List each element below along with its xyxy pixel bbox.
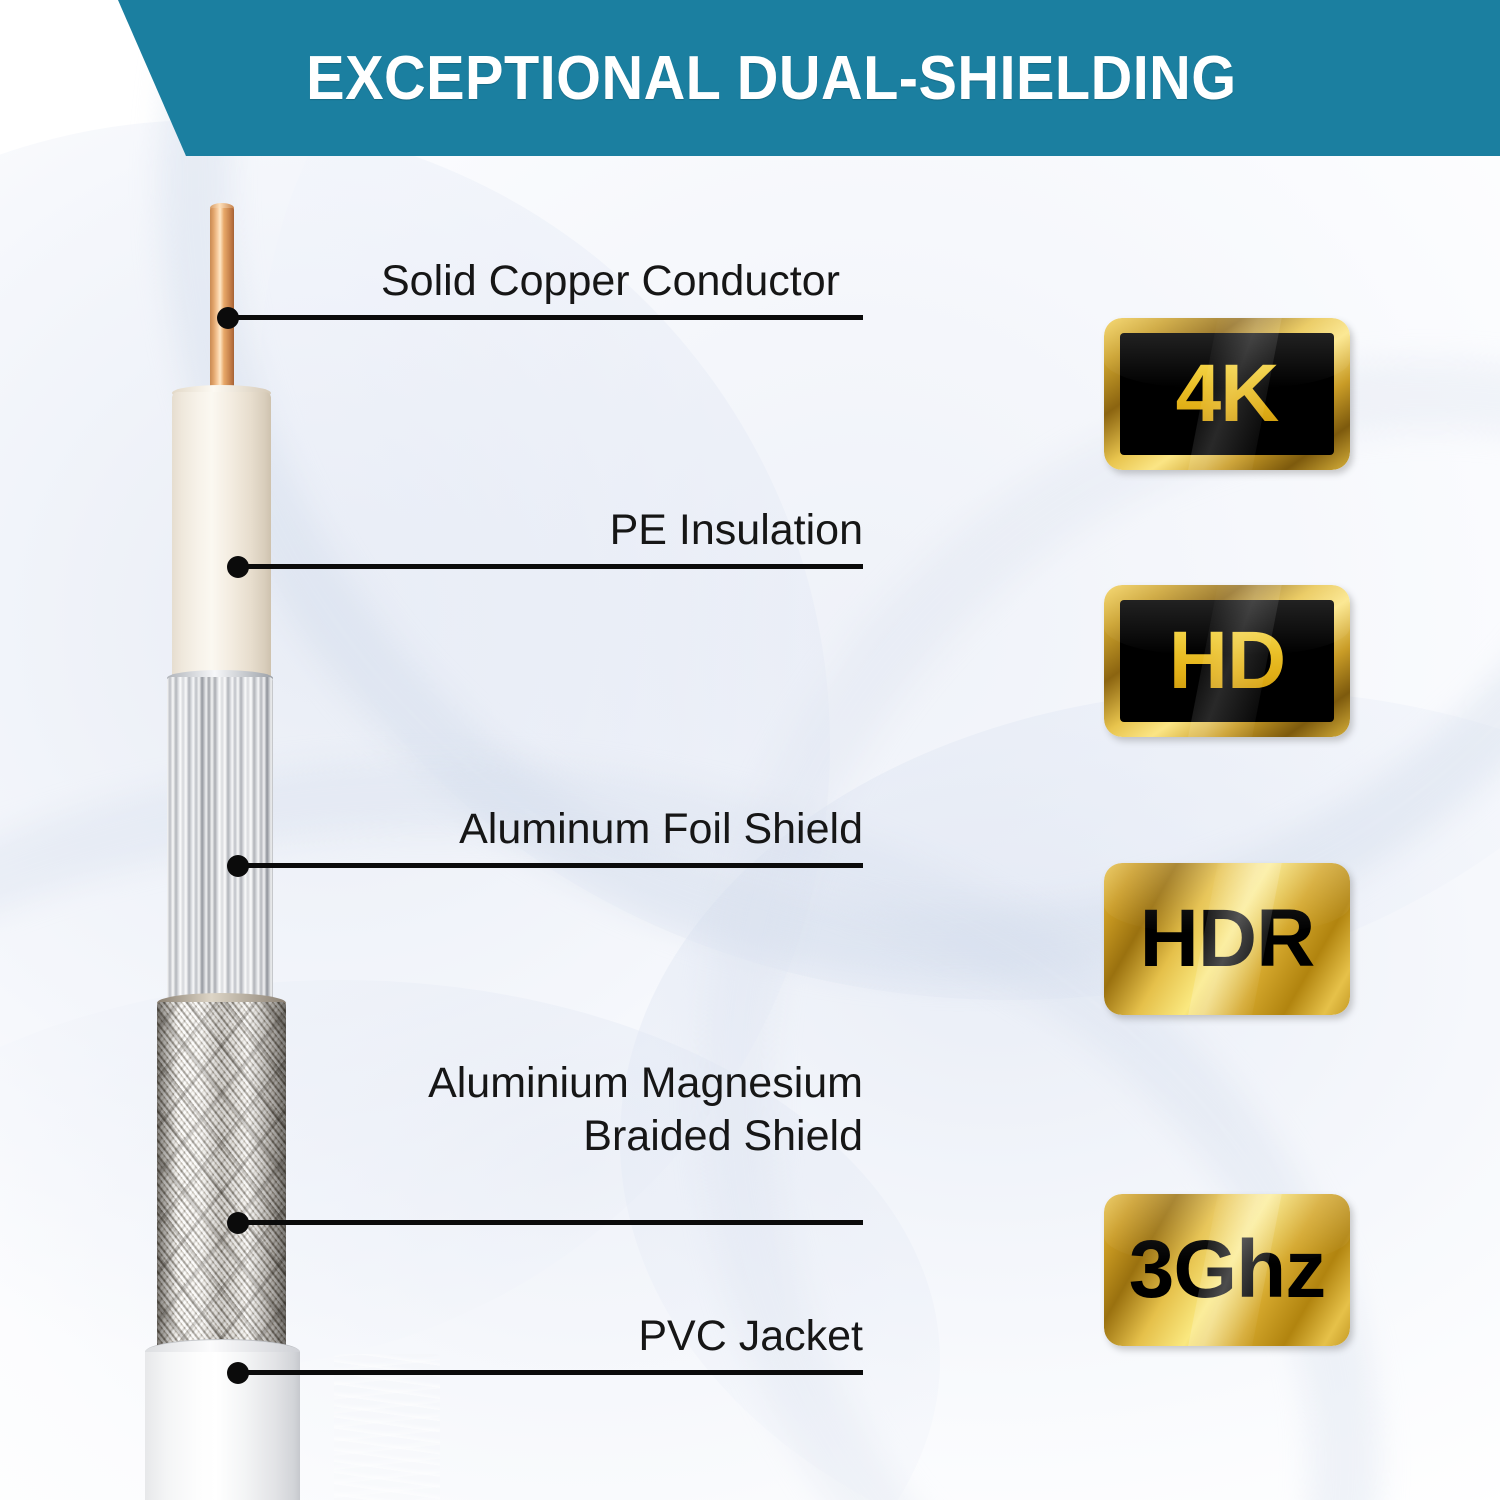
callout-label-line-2: Braided Shield xyxy=(263,1110,863,1163)
callout-leader-line-pe-insulation xyxy=(243,564,863,569)
callout-leader-line-solid-copper-conductor xyxy=(233,315,863,320)
badge-label-hd: HD xyxy=(1104,585,1350,737)
badge-3ghz: 3Ghz xyxy=(1104,1194,1350,1346)
badge-label-4k: 4K xyxy=(1104,318,1350,470)
infographic-canvas: EXCEPTIONAL DUAL-SHIELDING Solid Copper … xyxy=(0,0,1500,1500)
callout-leader-line-pvc-jacket xyxy=(243,1370,863,1375)
callout-label-pvc-jacket: PVC Jacket xyxy=(263,1310,863,1363)
callout-label-pe-insulation: PE Insulation xyxy=(263,504,863,557)
badge-hd: HD xyxy=(1104,585,1350,737)
badge-label-hdr: HDR xyxy=(1104,863,1350,1015)
callout-label-aluminum-foil-shield: Aluminum Foil Shield xyxy=(263,803,863,856)
header-banner: EXCEPTIONAL DUAL-SHIELDING xyxy=(0,0,1500,156)
callout-label-line-1: Aluminium Magnesium xyxy=(263,1057,863,1110)
callout-label-solid-copper-conductor: Solid Copper Conductor xyxy=(381,255,840,308)
badge-label-3ghz: 3Ghz xyxy=(1104,1194,1350,1346)
callout-leader-line-aluminium-magnesium-braided-shield xyxy=(243,1220,863,1225)
callout-leader-line-aluminum-foil-shield xyxy=(243,863,863,868)
badge-4k: 4K xyxy=(1104,318,1350,470)
badge-hdr: HDR xyxy=(1104,863,1350,1015)
banner-title: EXCEPTIONAL DUAL-SHIELDING xyxy=(53,0,1448,156)
callout-label-aluminium-magnesium-braided-shield: Aluminium Magnesium Braided Shield xyxy=(263,1057,863,1163)
